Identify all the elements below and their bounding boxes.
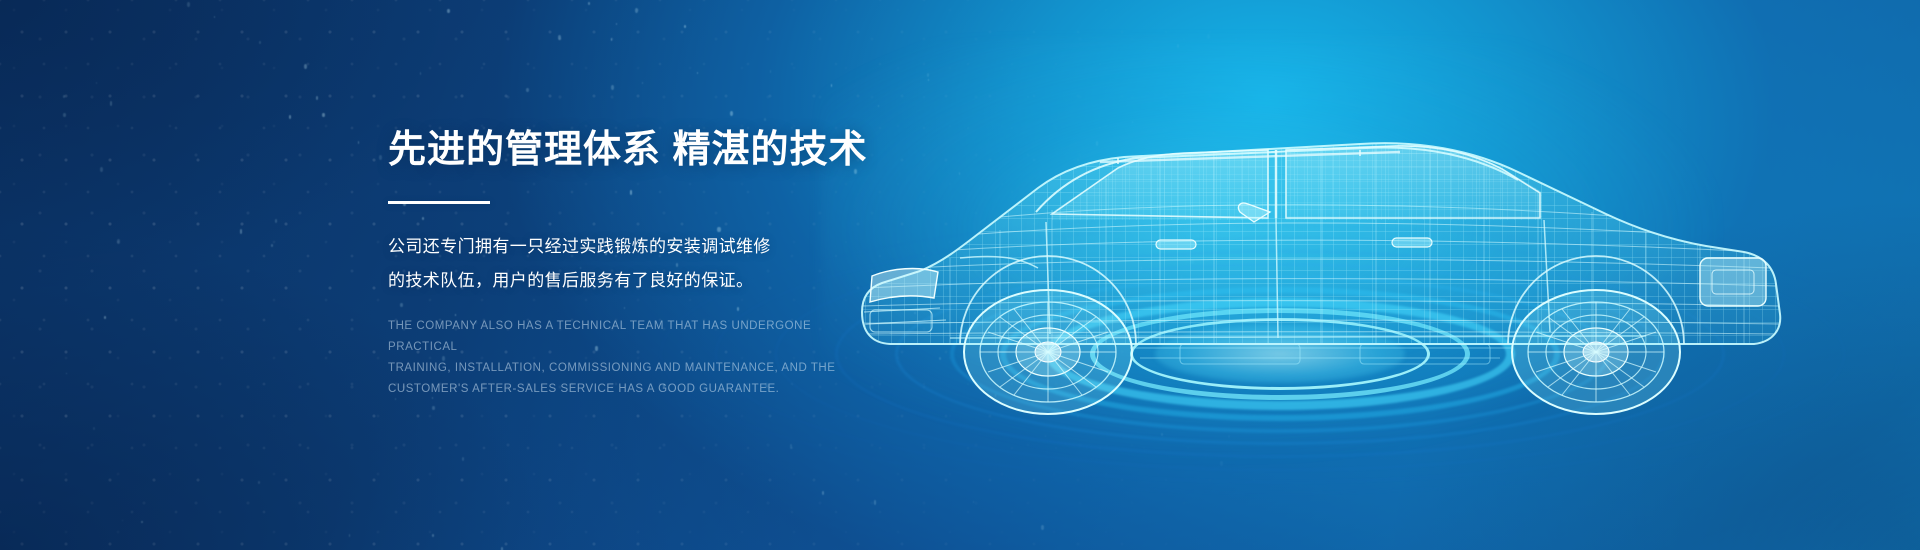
particle-dot — [432, 534, 434, 537]
car-rear-wheel — [1512, 290, 1680, 414]
particle-dot — [100, 167, 103, 172]
hero-text-block: 先进的管理体系 精湛的技术 公司还专门拥有一只经过实践锻炼的安装调试维修 的技术… — [388, 128, 1148, 400]
particle-dot — [289, 115, 292, 120]
particle-dot — [141, 521, 143, 524]
particle-dot — [275, 219, 277, 223]
particle-dot — [96, 82, 97, 84]
particle-dot — [214, 16, 215, 18]
particle-dot — [322, 113, 325, 118]
particle-dot — [240, 229, 243, 233]
particle-dot — [316, 96, 319, 101]
title-divider — [388, 201, 490, 204]
particle-dot — [122, 520, 123, 522]
particle-dot — [259, 41, 261, 44]
description-chinese: 公司还专门拥有一只经过实践锻炼的安装调试维修 的技术队伍，用户的售后服务有了良好… — [388, 230, 858, 298]
particle-dot — [447, 9, 449, 13]
particle-dot — [304, 64, 307, 69]
particle-dot — [379, 155, 382, 160]
page-title: 先进的管理体系 精湛的技术 — [388, 128, 1148, 173]
particle-dot — [63, 95, 65, 98]
particle-dot — [63, 113, 66, 118]
description-cn-line-1: 公司还专门拥有一只经过实践锻炼的安装调试维修 — [388, 230, 858, 264]
particle-dot — [358, 141, 360, 144]
description-cn-line-2: 的技术队伍，用户的售后服务有了良好的保证。 — [388, 264, 858, 298]
description-en-line-1: THE COMPANY ALSO HAS A TECHNICAL TEAM TH… — [388, 316, 838, 358]
description-english: THE COMPANY ALSO HAS A TECHNICAL TEAM TH… — [388, 316, 838, 400]
particle-dot — [616, 23, 617, 25]
particle-dot — [635, 8, 638, 13]
description-en-line-3: CUSTOMER'S AFTER-SALES SERVICE HAS A GOO… — [388, 379, 838, 400]
particle-dot — [349, 534, 351, 537]
particle-dot — [462, 457, 465, 461]
particle-dot — [558, 35, 561, 40]
particle-dot — [258, 481, 260, 485]
particle-dot — [104, 316, 105, 319]
particle-dot — [110, 101, 113, 105]
particle-dot — [611, 38, 612, 40]
particle-dot — [526, 88, 528, 92]
particle-dot — [93, 427, 95, 430]
particle-dot — [271, 244, 273, 247]
particle-dot — [588, 2, 590, 5]
particle-dot — [66, 373, 67, 375]
hero-banner: 先进的管理体系 精湛的技术 公司还专门拥有一只经过实践锻炼的安装调试维修 的技术… — [0, 0, 1920, 550]
particle-dot — [611, 85, 614, 90]
particle-dot — [187, 2, 190, 7]
particle-dot — [420, 72, 422, 75]
description-en-line-2: TRAINING, INSTALLATION, COMMISSIONING AN… — [388, 358, 838, 379]
particle-dot — [117, 239, 120, 244]
car-underbody — [1130, 344, 1512, 364]
particle-dot — [432, 406, 434, 410]
